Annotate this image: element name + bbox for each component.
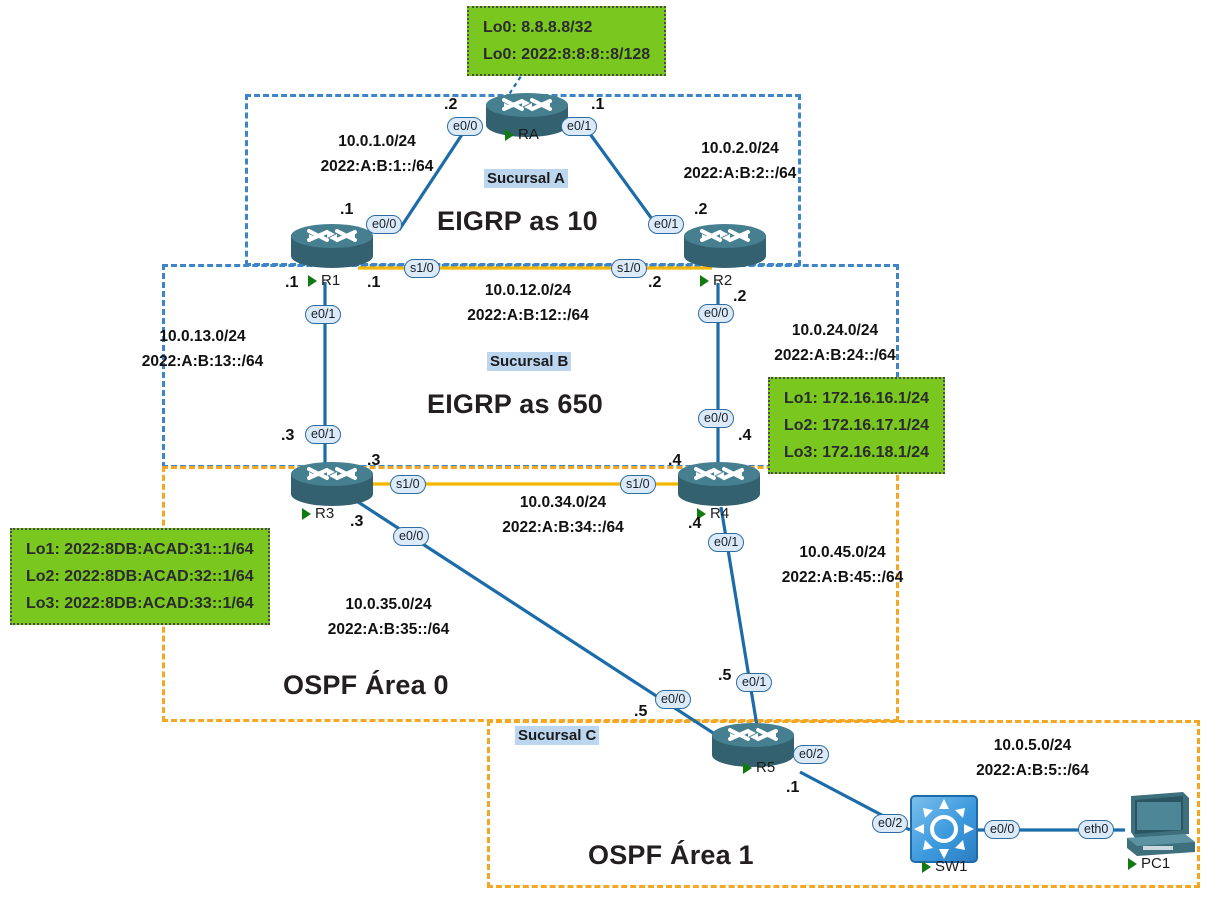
device-label-r3: R3 bbox=[302, 505, 334, 522]
iface-r2-e0-0[interactable]: e0/0 bbox=[698, 304, 734, 323]
status-triangle-icon bbox=[1128, 858, 1137, 870]
iface-ra-e0-1[interactable]: e0/1 bbox=[561, 117, 597, 136]
status-triangle-icon bbox=[505, 129, 514, 141]
device-label-r5: R5 bbox=[743, 759, 775, 776]
iface-r3-s1-0[interactable]: s1/0 bbox=[390, 475, 426, 494]
netlabel-ra-r2: 10.0.2.0/24 2022:A:B:2::/64 bbox=[650, 136, 830, 186]
iface-pc1-eth0[interactable]: eth0 bbox=[1078, 820, 1114, 839]
iface-sw1-e0-2[interactable]: e0/2 bbox=[872, 814, 908, 833]
device-name: R1 bbox=[321, 272, 340, 289]
label-sucursal-c: Sucursal C bbox=[515, 726, 599, 745]
label-sucursal-a: Sucursal A bbox=[484, 169, 568, 188]
netlabel-r1-r3: 10.0.13.0/24 2022:A:B:13::/64 bbox=[110, 324, 295, 374]
iface-r2-e0-1[interactable]: e0/1 bbox=[648, 215, 684, 234]
status-triangle-icon bbox=[302, 508, 311, 520]
label-ospf-area-1: OSPF Área 1 bbox=[588, 840, 754, 871]
device-switch-sw1[interactable] bbox=[908, 793, 980, 865]
device-name: R5 bbox=[756, 759, 775, 776]
netlabel-ipv4: 10.0.35.0/24 bbox=[345, 596, 431, 613]
iface-r1-s1-0[interactable]: s1/0 bbox=[404, 259, 440, 278]
note-line: Lo2: 172.16.17.1/24 bbox=[784, 412, 929, 439]
octet-r1-e0-0: .1 bbox=[340, 201, 353, 219]
octet-r1-e0-1: .1 bbox=[285, 274, 298, 292]
octet-r5-e0-1: .5 bbox=[718, 667, 731, 685]
note-line: Lo1: 172.16.16.1/24 bbox=[784, 385, 929, 412]
note-line: Lo3: 2022:8DB:ACAD:33::1/64 bbox=[26, 590, 254, 617]
device-pc-pc1[interactable] bbox=[1123, 790, 1199, 860]
netlabel-ipv4: 10.0.45.0/24 bbox=[799, 544, 885, 561]
octet-r3-e0-1: .3 bbox=[281, 427, 294, 445]
status-triangle-icon bbox=[700, 275, 709, 287]
netlabel-ipv4: 10.0.13.0/24 bbox=[159, 328, 245, 345]
note-box-r3: Lo1: 2022:8DB:ACAD:31::1/64 Lo2: 2022:8D… bbox=[10, 528, 270, 625]
note-box-ra: Lo0: 8.8.8.8/32 Lo0: 2022:8:8:8::8/128 bbox=[467, 6, 666, 76]
device-name: PC1 bbox=[1141, 855, 1170, 872]
octet-r2-s1-0: .2 bbox=[648, 274, 661, 292]
label-eigrp-as-650: EIGRP as 650 bbox=[427, 389, 603, 420]
octet-r2-e0-0: .2 bbox=[733, 288, 746, 306]
netlabel-r1-r2: 10.0.12.0/24 2022:A:B:12::/64 bbox=[438, 278, 618, 328]
netlabel-ipv4: 10.0.34.0/24 bbox=[520, 494, 606, 511]
device-name: RA bbox=[518, 126, 539, 143]
octet-r5-e0-2: .1 bbox=[786, 779, 799, 797]
device-label-sw1: SW1 bbox=[922, 858, 968, 875]
octet-ra-e0-1: .1 bbox=[591, 96, 604, 114]
note-line: Lo2: 2022:8DB:ACAD:32::1/64 bbox=[26, 563, 254, 590]
status-triangle-icon bbox=[743, 762, 752, 774]
iface-ra-e0-0[interactable]: e0/0 bbox=[447, 117, 483, 136]
note-box-r4: Lo1: 172.16.16.1/24 Lo2: 172.16.17.1/24 … bbox=[768, 377, 945, 474]
network-topology-diagram: Lo0: 8.8.8.8/32 Lo0: 2022:8:8:8::8/128 L… bbox=[0, 0, 1229, 897]
device-router-r1[interactable] bbox=[287, 222, 377, 270]
netlabel-r4-r5: 10.0.45.0/24 2022:A:B:45::/64 bbox=[750, 540, 935, 590]
note-line: Lo0: 2022:8:8:8::8/128 bbox=[483, 41, 650, 68]
netlabel-r1-ra: 10.0.1.0/24 2022:A:B:1::/64 bbox=[287, 129, 467, 179]
netlabel-ipv6: 2022:A:B:45::/64 bbox=[782, 569, 903, 586]
device-router-r2[interactable] bbox=[680, 222, 770, 270]
netlabel-ipv6: 2022:A:B:24::/64 bbox=[774, 347, 895, 364]
iface-r3-e0-1[interactable]: e0/1 bbox=[305, 425, 341, 444]
netlabel-ipv6: 2022:A:B:34::/64 bbox=[502, 519, 623, 536]
netlabel-ipv6: 2022:A:B:13::/64 bbox=[142, 353, 263, 370]
iface-r1-e0-0[interactable]: e0/0 bbox=[366, 215, 402, 234]
iface-r4-e0-1[interactable]: e0/1 bbox=[708, 533, 744, 552]
label-sucursal-b: Sucursal B bbox=[487, 352, 571, 371]
iface-r5-e0-2[interactable]: e0/2 bbox=[793, 745, 829, 764]
netlabel-r3-r4: 10.0.34.0/24 2022:A:B:34::/64 bbox=[473, 490, 653, 540]
iface-r2-s1-0[interactable]: s1/0 bbox=[611, 259, 647, 278]
netlabel-ipv4: 10.0.12.0/24 bbox=[485, 282, 571, 299]
device-name: R3 bbox=[315, 505, 334, 522]
iface-sw1-e0-0[interactable]: e0/0 bbox=[984, 820, 1020, 839]
netlabel-ipv4: 10.0.24.0/24 bbox=[792, 322, 878, 339]
netlabel-ipv6: 2022:A:B:1::/64 bbox=[321, 158, 434, 175]
device-label-pc1: PC1 bbox=[1128, 855, 1170, 872]
octet-r4-s1-0: .4 bbox=[668, 452, 681, 470]
device-router-r4[interactable] bbox=[674, 460, 764, 508]
octet-r5-e0-0: .5 bbox=[634, 703, 647, 721]
status-triangle-icon bbox=[308, 275, 317, 287]
netlabel-ipv6: 2022:A:B:35::/64 bbox=[328, 621, 449, 638]
octet-r4-e0-1: .4 bbox=[688, 515, 701, 533]
note-line: Lo3: 172.16.18.1/24 bbox=[784, 439, 929, 466]
iface-r4-s1-0[interactable]: s1/0 bbox=[620, 475, 656, 494]
iface-r3-e0-0[interactable]: e0/0 bbox=[393, 527, 429, 546]
netlabel-r3-r5: 10.0.35.0/24 2022:A:B:35::/64 bbox=[296, 592, 481, 642]
device-label-r1: R1 bbox=[308, 272, 340, 289]
device-label-ra: RA bbox=[505, 126, 539, 143]
device-router-r3[interactable] bbox=[287, 460, 377, 508]
netlabel-ipv4: 10.0.5.0/24 bbox=[994, 737, 1072, 754]
octet-r1-s1-0: .1 bbox=[367, 274, 380, 292]
octet-ra-e0-0: .2 bbox=[444, 96, 457, 114]
device-label-r4: R4 bbox=[697, 505, 729, 522]
netlabel-ipv4: 10.0.1.0/24 bbox=[338, 133, 416, 150]
device-name: R4 bbox=[710, 505, 729, 522]
device-label-r2: R2 bbox=[700, 272, 732, 289]
octet-r2-e0-1: .2 bbox=[694, 201, 707, 219]
octet-r4-e0-0: .4 bbox=[738, 427, 751, 445]
netlabel-r5-sw1: 10.0.5.0/24 2022:A:B:5::/64 bbox=[940, 733, 1125, 783]
netlabel-ipv6: 2022:A:B:5::/64 bbox=[976, 762, 1089, 779]
label-eigrp-as-10: EIGRP as 10 bbox=[437, 206, 598, 237]
note-line: Lo1: 2022:8DB:ACAD:31::1/64 bbox=[26, 536, 254, 563]
iface-r4-e0-0[interactable]: e0/0 bbox=[698, 409, 734, 428]
device-name: SW1 bbox=[935, 858, 968, 875]
note-line: Lo0: 8.8.8.8/32 bbox=[483, 14, 650, 41]
label-ospf-area-0: OSPF Área 0 bbox=[283, 670, 449, 701]
netlabel-ipv4: 10.0.2.0/24 bbox=[701, 140, 779, 157]
netlabel-ipv6: 2022:A:B:12::/64 bbox=[467, 307, 588, 324]
iface-r5-e0-0[interactable]: e0/0 bbox=[655, 690, 691, 709]
status-triangle-icon bbox=[922, 861, 931, 873]
iface-r5-e0-1[interactable]: e0/1 bbox=[736, 673, 772, 692]
iface-r1-e0-1[interactable]: e0/1 bbox=[305, 305, 341, 324]
octet-r3-s1-0: .3 bbox=[367, 452, 380, 470]
netlabel-ipv6: 2022:A:B:2::/64 bbox=[684, 165, 797, 182]
octet-r3-e0-0: .3 bbox=[350, 513, 363, 531]
netlabel-r2-r4: 10.0.24.0/24 2022:A:B:24::/64 bbox=[740, 318, 930, 368]
device-name: R2 bbox=[713, 272, 732, 289]
